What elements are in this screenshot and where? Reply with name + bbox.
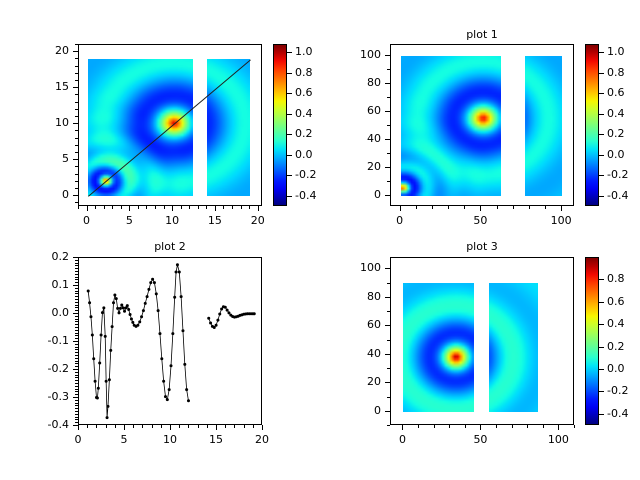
y-minor-tick	[387, 368, 390, 369]
y-tick	[385, 268, 390, 269]
x-minor-tick	[449, 425, 450, 428]
x-minor-tick	[574, 425, 575, 428]
y-minor-tick	[387, 425, 390, 426]
plot-title: plot 3	[390, 240, 574, 253]
colorbar-tick-label: 0.4	[607, 317, 625, 330]
colorbar-tick-label: 0.0	[607, 362, 625, 375]
colorbar-tick-label: -0.2	[607, 384, 628, 397]
heatmap-patch-right-field	[489, 283, 537, 412]
colorbar	[585, 257, 599, 425]
heatmap-canvas	[403, 283, 474, 412]
x-tick	[480, 425, 481, 430]
heatmap-patch-left-field	[403, 283, 474, 412]
colorbar-tick	[599, 279, 604, 280]
x-tick-label: 50	[460, 433, 500, 446]
x-minor-tick	[465, 425, 466, 428]
colorbar-tick-label: 0.8	[607, 272, 625, 285]
y-tick-label: 0	[335, 404, 381, 417]
x-minor-tick	[543, 425, 544, 428]
subplot-plot-3: plot 30501000204060801000.80.60.40.20.0-…	[0, 0, 640, 480]
colorbar-gradient	[586, 258, 598, 424]
y-minor-tick	[387, 283, 390, 284]
y-tick	[385, 297, 390, 298]
y-minor-tick	[387, 311, 390, 312]
heatmap-canvas	[489, 283, 537, 412]
x-minor-tick	[512, 425, 513, 428]
x-tick	[402, 425, 403, 430]
y-minor-tick	[387, 340, 390, 341]
y-tick-label: 20	[335, 375, 381, 388]
colorbar-tick-label: 0.6	[607, 295, 625, 308]
x-tick-label: 100	[538, 433, 578, 446]
y-tick	[385, 382, 390, 383]
y-tick	[385, 354, 390, 355]
y-minor-tick	[387, 397, 390, 398]
y-tick-label: 60	[335, 318, 381, 331]
colorbar-tick	[599, 302, 604, 303]
axes-frame	[390, 257, 574, 425]
y-tick	[385, 411, 390, 412]
y-tick-label: 80	[335, 290, 381, 303]
x-tick-label: 0	[382, 433, 422, 446]
y-tick-label: 100	[335, 261, 381, 274]
figure-canvas: 05101520051015201.00.80.60.40.20.0-0.2-0…	[0, 0, 640, 480]
colorbar-tick	[599, 347, 604, 348]
y-tick-label: 40	[335, 347, 381, 360]
colorbar-tick	[599, 391, 604, 392]
colorbar-tick-label: -0.4	[607, 407, 628, 420]
x-minor-tick	[434, 425, 435, 428]
colorbar-tick	[599, 369, 604, 370]
colorbar-tick	[599, 324, 604, 325]
colorbar-tick-label: 0.2	[607, 340, 625, 353]
x-minor-tick	[418, 425, 419, 428]
x-minor-tick	[496, 425, 497, 428]
x-tick	[558, 425, 559, 430]
colorbar-tick	[599, 414, 604, 415]
x-minor-tick	[527, 425, 528, 428]
y-tick	[385, 325, 390, 326]
